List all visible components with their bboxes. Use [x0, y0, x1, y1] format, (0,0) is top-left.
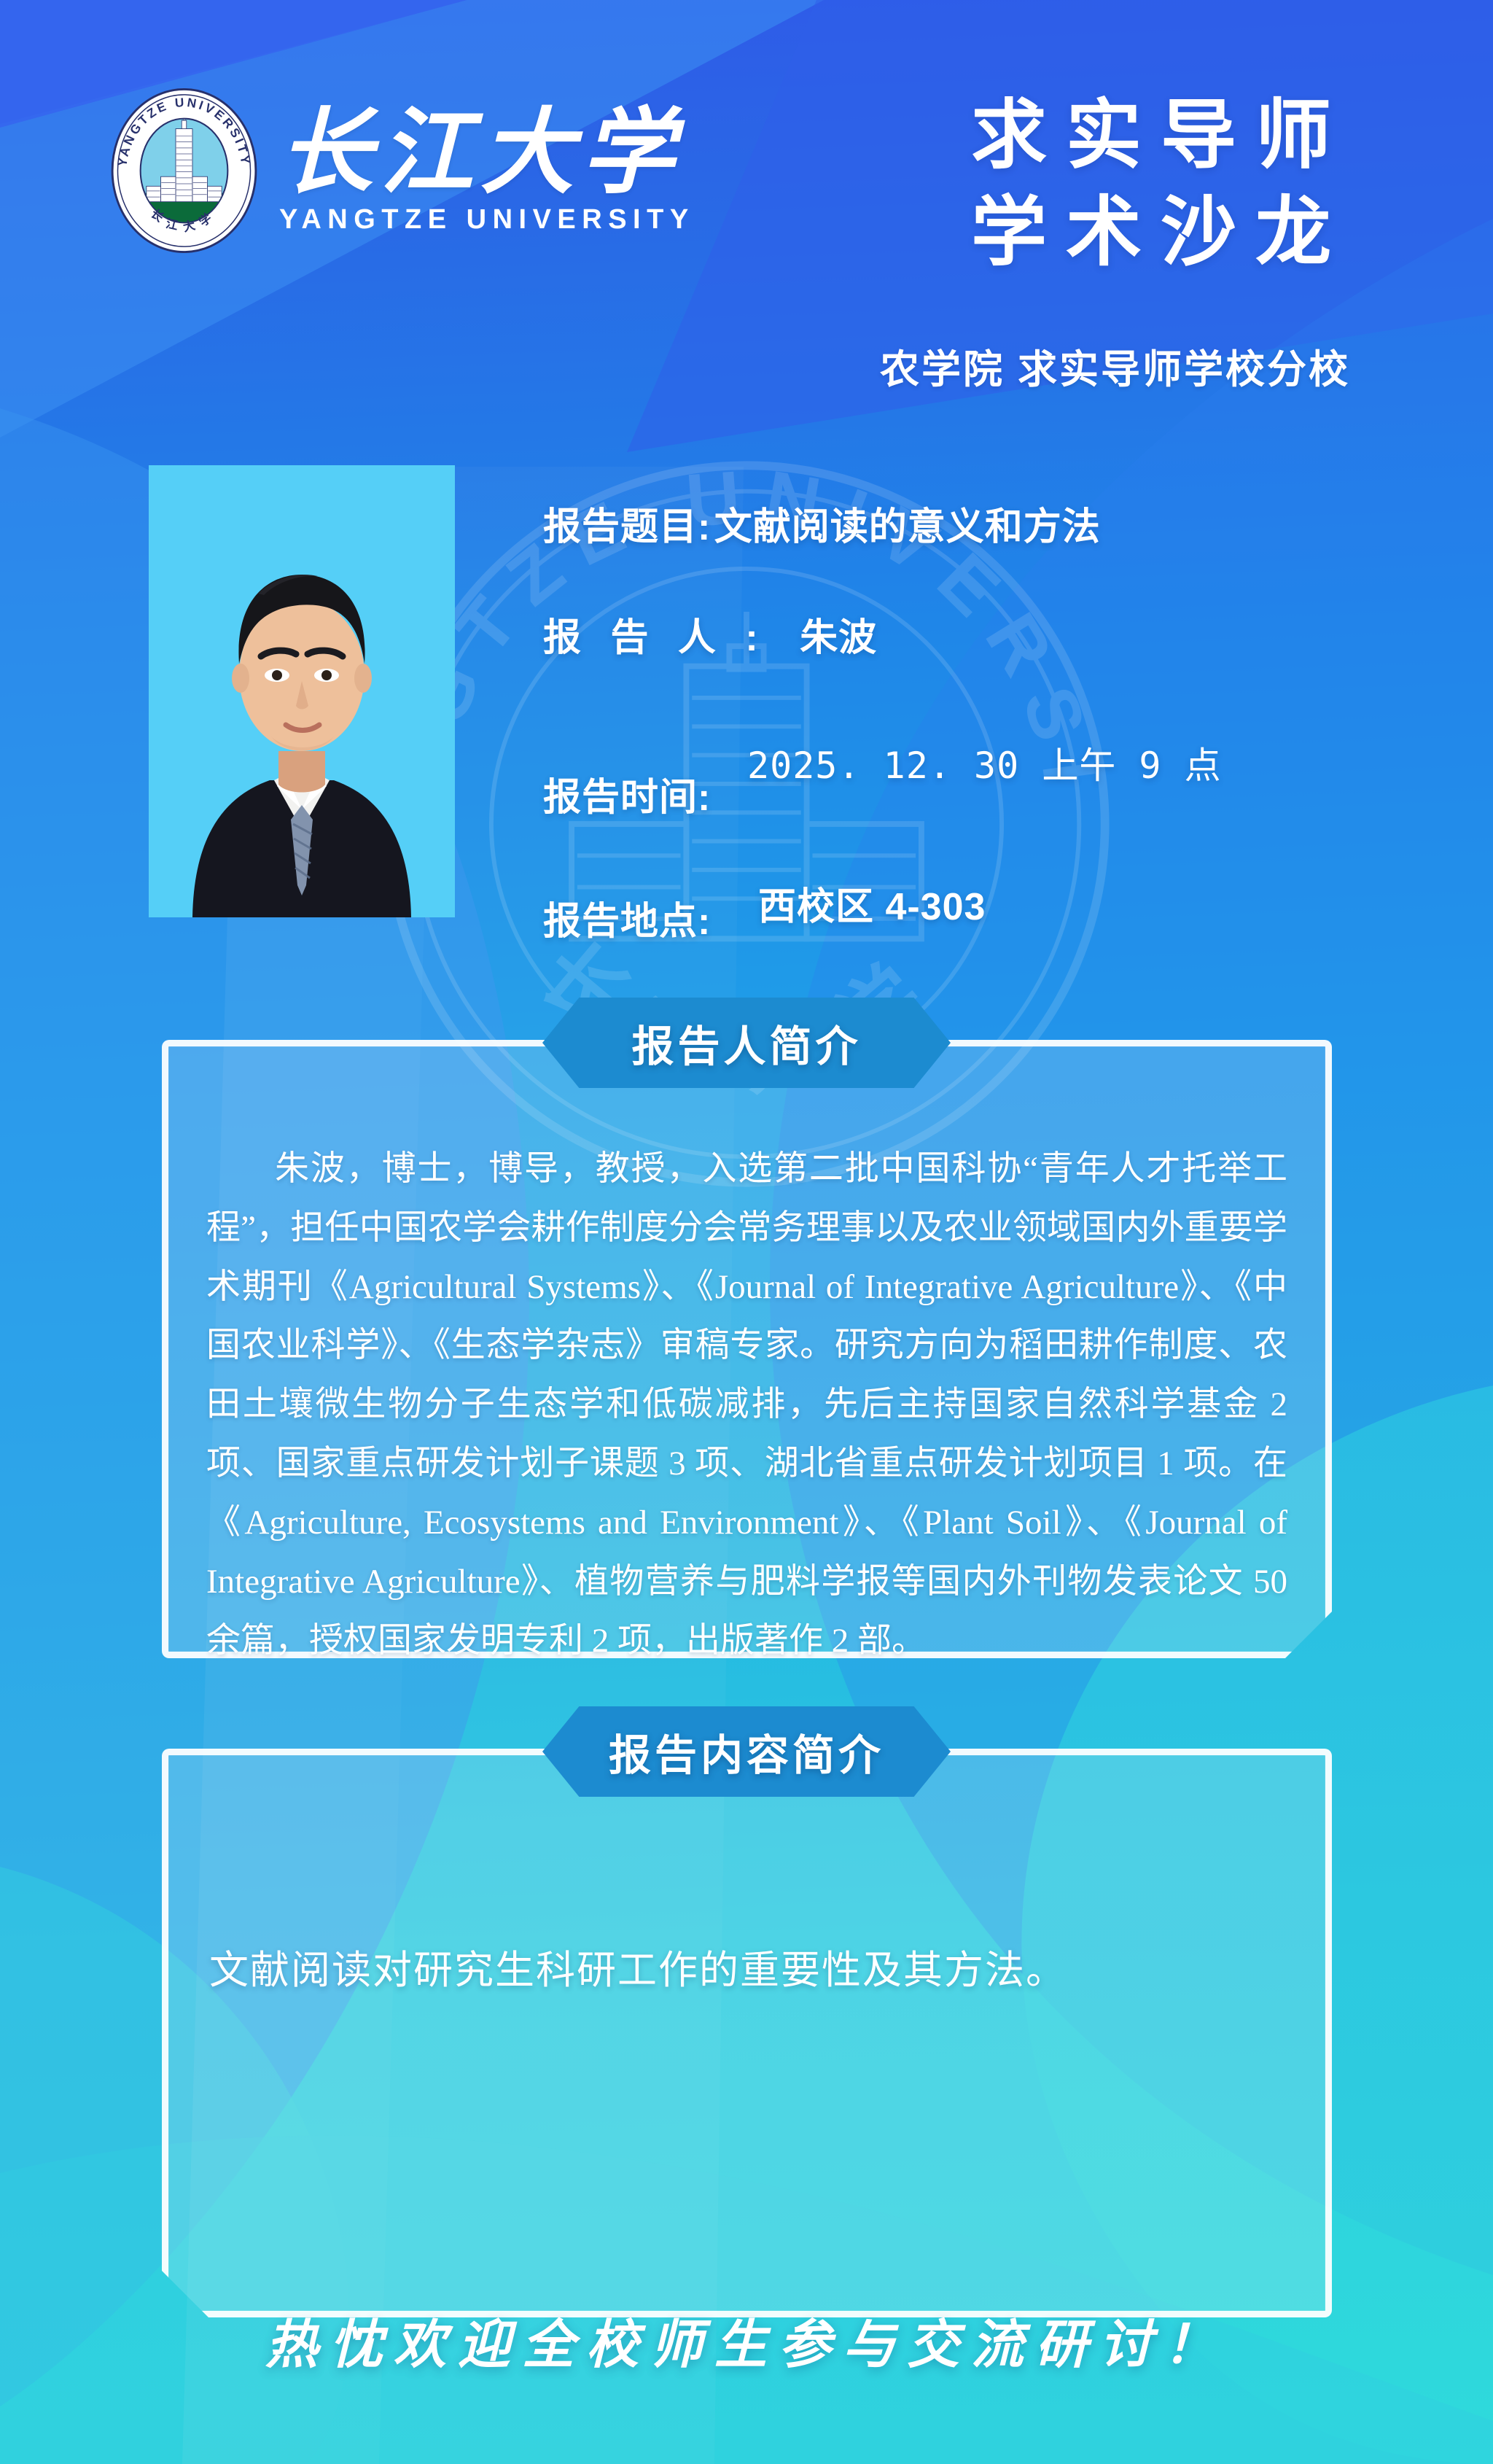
bio-badge-label: 报告人简介	[631, 1012, 861, 1073]
abstract-text: 文献阅读对研究生科研工作的重要性及其方法。	[168, 1755, 1325, 2048]
info-row-title: 报告题目: 文献阅读的意义和方法	[543, 496, 1381, 566]
place-value: 西校区 4-303	[758, 876, 986, 930]
bio-box: 朱波，博士，博导，教授，入选第二批中国科协“青年人才托举工程”，担任中国农学会耕…	[162, 1040, 1332, 1658]
poster-header: YANGTZE UNIVERSITY 长江大学 长江大学 YANGTZE UNI…	[0, 0, 1493, 438]
university-name-en: YANGTZE UNIVERSITY	[279, 204, 695, 236]
department-subtitle: 农学院 求实导师学校分校	[880, 337, 1350, 395]
place-label: 报告地点:	[543, 890, 711, 945]
salon-title-line1: 求实导师	[971, 88, 1350, 184]
speaker-photo	[149, 465, 455, 917]
university-name-cn: 长江大学	[279, 106, 695, 200]
time-label: 报告时间:	[543, 766, 711, 821]
title-value: 文献阅读的意义和方法	[714, 496, 1101, 551]
university-logo-block: YANGTZE UNIVERSITY 长江大学 长江大学 YANGTZE UNI…	[109, 86, 695, 255]
bio-badge: 报告人简介	[542, 998, 951, 1088]
speaker-portrait-svg	[149, 465, 455, 917]
salon-title-line2: 学术沙龙	[971, 184, 1350, 281]
university-seal-icon: YANGTZE UNIVERSITY 长江大学	[109, 86, 259, 255]
time-value: 2025. 12. 30 上午 9 点	[747, 737, 1222, 789]
seal-svg: YANGTZE UNIVERSITY 长江大学	[109, 86, 259, 255]
title-label: 报告题目:	[543, 496, 711, 551]
abstract-badge: 报告内容简介	[542, 1706, 951, 1797]
bio-text: 朱波，博士，博导，教授，入选第二批中国科协“青年人才托举工程”，担任中国农学会耕…	[168, 1046, 1325, 1711]
salon-title: 求实导师 学术沙龙	[971, 88, 1350, 281]
info-row-speaker: 报 告 人 : 朱波	[543, 607, 1381, 677]
speaker-label: 报 告 人 :	[543, 607, 768, 661]
poster-root: YANGTZE UNIVERSITY 长江大学	[0, 0, 1493, 2464]
info-row-time: 报告时间: 2025. 12. 30 上午 9 点	[543, 718, 1381, 827]
event-info: 报告题目: 文献阅读的意义和方法 报 告 人 : 朱波 报告时间: 2025. …	[543, 496, 1381, 948]
abstract-box: 文献阅读对研究生科研工作的重要性及其方法。	[162, 1749, 1332, 2317]
info-row-place: 报告地点: 西校区 4-303	[543, 868, 1381, 948]
footer-welcome: 热忱欢迎全校师生参与交流研讨！	[0, 2301, 1493, 2378]
university-name-block: 长江大学 YANGTZE UNIVERSITY	[279, 106, 695, 236]
abstract-badge-label: 报告内容简介	[609, 1721, 884, 1782]
speaker-value: 朱波	[800, 607, 877, 661]
